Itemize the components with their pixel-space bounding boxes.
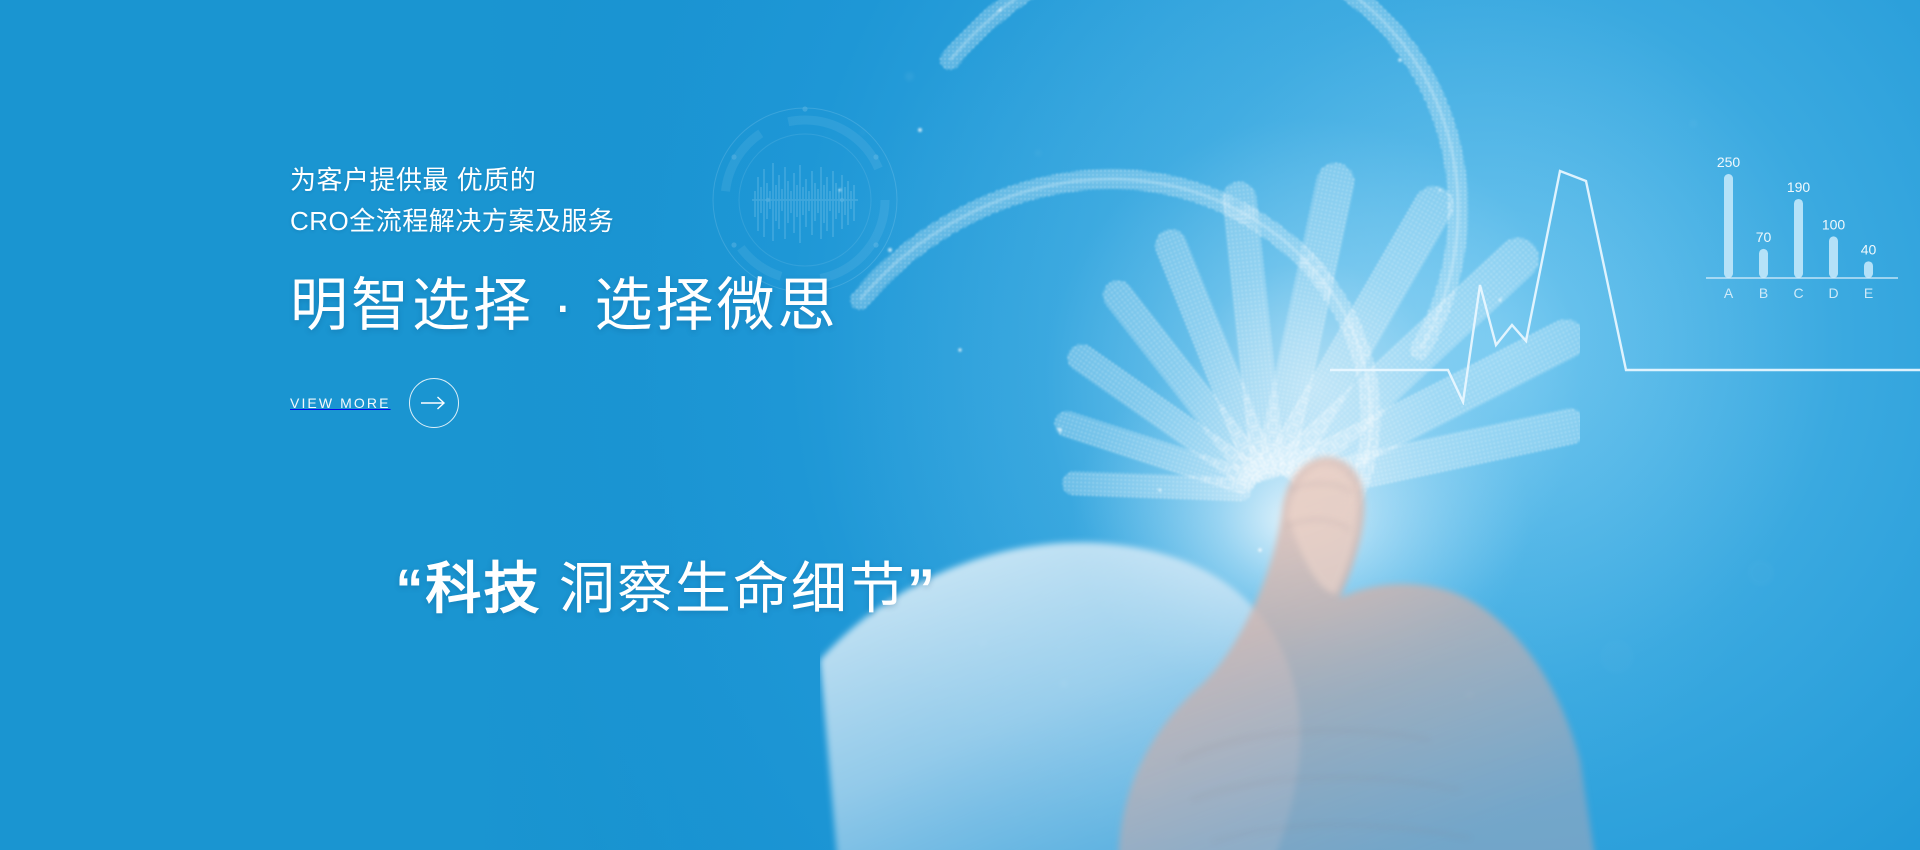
arrow-right-icon[interactable] xyxy=(409,378,459,428)
chart-category-label: D xyxy=(1828,285,1838,301)
tagline-light: 洞察生命细节 xyxy=(541,557,907,620)
chart-value-label: 190 xyxy=(1787,179,1811,195)
chart-bar xyxy=(1759,249,1768,278)
chart-category-label: A xyxy=(1724,285,1734,301)
chart-bar xyxy=(1724,174,1733,278)
bokeh-dot xyxy=(1748,560,1774,586)
tagline-strong: 科技 xyxy=(425,557,541,620)
view-more-button[interactable]: VIEW MORE xyxy=(290,378,459,428)
subtitle-line-2: CRO全流程解决方案及服务 xyxy=(290,201,1050,242)
quote-open-mark: “ xyxy=(395,557,425,620)
bar-chart: ABCDE 2507019010040 xyxy=(1700,150,1905,320)
hero-copy: 为客户提供最 优质的 CRO全流程解决方案及服务 明智选择 · 选择微思 VIE… xyxy=(290,160,1050,700)
chart-bar xyxy=(1794,199,1803,278)
chart-category-label: C xyxy=(1793,285,1803,301)
chart-category-label: B xyxy=(1759,285,1768,301)
subtitle: 为客户提供最 优质的 CRO全流程解决方案及服务 xyxy=(290,160,1050,242)
chart-value-label: 40 xyxy=(1861,241,1877,257)
chart-value-label: 100 xyxy=(1822,216,1846,232)
chart-bar xyxy=(1864,261,1873,278)
chart-category-label: E xyxy=(1864,285,1873,301)
subtitle-line-1: 为客户提供最 优质的 xyxy=(290,160,1050,201)
tagline-quote: “科技 洞察生命细节” xyxy=(290,478,1050,700)
hero-banner: ABCDE 2507019010040 为客户提供最 优质的 CRO全流程解决方… xyxy=(0,0,1920,850)
view-more-label: VIEW MORE xyxy=(290,395,391,411)
bokeh-dot xyxy=(1690,120,1697,127)
bokeh-dot xyxy=(1600,640,1634,674)
quote-close-mark: ” xyxy=(907,557,937,620)
chart-value-label: 250 xyxy=(1717,154,1741,170)
chart-value-label: 70 xyxy=(1756,229,1772,245)
chart-bar xyxy=(1829,236,1838,278)
page-title: 明智选择 · 选择微思 xyxy=(290,270,1050,342)
